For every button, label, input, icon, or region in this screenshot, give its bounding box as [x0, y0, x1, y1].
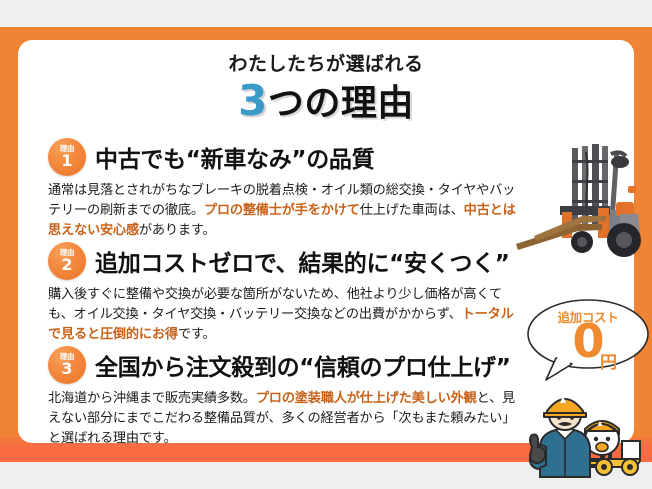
reason-3-title: 全国から注文殺到の“信頼のプロ仕上げ” [95, 348, 511, 382]
body-run-2: 仕上げた車両は、 [360, 203, 464, 218]
reason-block-2: 理由 2 追加コストゼロで、結果的に“安くつく” 購入後すぐに整備や交換が必要な… [48, 242, 528, 345]
reason-1-badge-number: 1 [61, 153, 72, 169]
headline-main: 3つの理由 [18, 79, 634, 123]
reason-block-3: 理由 3 全国から注文殺到の“信頼のプロ仕上げ” 北海道から沖縄まで販売実績多数… [48, 346, 528, 449]
body-run-0: 購入後すぐに整備や交換が必要な箇所がないため、他社より少し価格が高くても、オイル… [48, 287, 502, 322]
reason-3-header: 理由 3 全国から注文殺到の“信頼のプロ仕上げ” [48, 346, 528, 384]
reason-2-body: 購入後すぐに整備や交換が必要な箇所がないため、他社より少し価格が高くても、オイル… [48, 285, 516, 345]
body-run-0: 北海道から沖縄まで販売実績多数。 [48, 391, 256, 406]
headline-lead: わたしたちが選ばれる [18, 54, 634, 75]
speech-bubble: 追加コスト 0 円 [526, 296, 650, 382]
reason-2-badge: 理由 2 [48, 242, 86, 280]
reason-1-title: 中古でも“新車なみ”の品質 [95, 140, 374, 174]
reason-3-body: 北海道から沖縄まで販売実績多数。プロの塗装職人が仕上げた美しい外観と、見えない部… [48, 389, 516, 449]
reason-2-title: 追加コストゼロで、結果的に“安くつく” [95, 244, 510, 278]
forklift-photo [516, 140, 642, 268]
reason-block-1: 理由 1 中古でも“新車なみ”の品質 通常は見落とされがちなブレーキの脱着点検・… [48, 138, 528, 241]
headline-main-rest: つの理由 [268, 83, 414, 124]
headline-number: 3 [238, 76, 268, 125]
reason-1-header: 理由 1 中古でも“新車なみ”の品質 [48, 138, 528, 176]
page-title: わたしたちが選ばれる 3つの理由 [18, 54, 634, 123]
bubble-unit: 円 [600, 348, 617, 373]
body-run-2: です。 [178, 327, 216, 342]
reason-3-badge-number: 3 [61, 361, 72, 377]
reason-3-badge: 理由 3 [48, 346, 86, 384]
reason-2-header: 理由 2 追加コストゼロで、結果的に“安くつく” [48, 242, 528, 280]
body-run-4: があります。 [139, 223, 216, 238]
body-run-1: プロの塗装職人が仕上げた美しい外観 [256, 391, 477, 406]
reason-1-body: 通常は見落とされがちなブレーキの脱着点検・オイル類の総交換・タイヤやバッテリーの… [48, 181, 516, 241]
body-run-1: プロの整備士が手をかけて [204, 203, 360, 218]
bubble-amount: 0 [526, 318, 650, 364]
reason-1-badge: 理由 1 [48, 138, 86, 176]
reason-2-badge-number: 2 [61, 257, 72, 273]
worker-thumbs-up-illustration [518, 385, 650, 481]
content-card: わたしたちが選ばれる 3つの理由 理由 1 中古でも“新車なみ”の品質 通常は見… [18, 40, 634, 443]
